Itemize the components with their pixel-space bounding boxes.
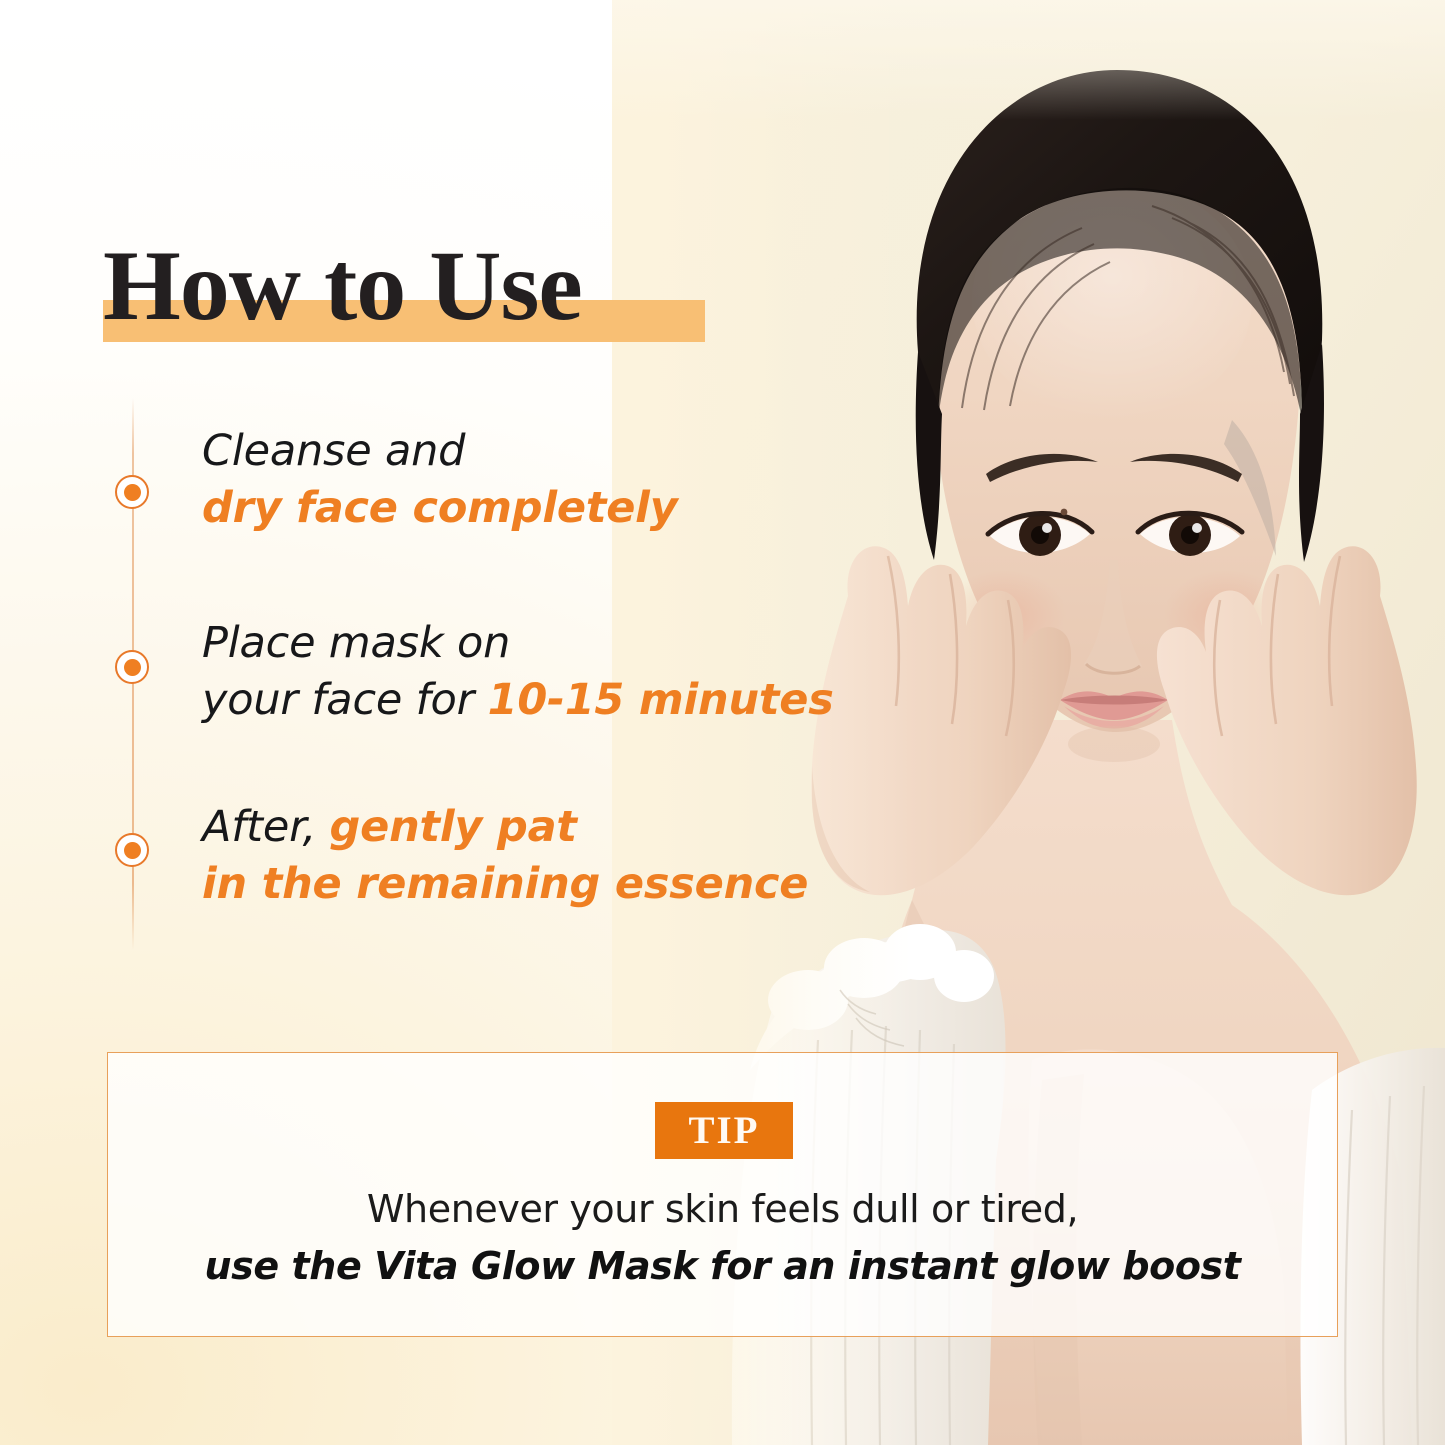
step-3-line-1: After, gently pat xyxy=(202,800,808,855)
step-1-text-accent: dry face completely xyxy=(202,483,678,533)
page-title-text: How to Use xyxy=(103,236,582,336)
step-bullet-2 xyxy=(115,650,149,684)
tip-line-1: Whenever your skin feels dull or tired, xyxy=(107,1185,1338,1234)
step-1-line-2: dry face completely xyxy=(202,481,678,536)
how-to-use-graphic: How to Use Cleanse and dry face complete… xyxy=(0,0,1445,1445)
step-3-text-accent-2: in the remaining essence xyxy=(202,859,808,909)
tip-badge: TIP xyxy=(655,1102,793,1159)
tip-badge-label: TIP xyxy=(688,1111,759,1150)
step-3-line-2: in the remaining essence xyxy=(202,857,808,912)
tip-line-2: use the Vita Glow Mask for an instant gl… xyxy=(107,1242,1338,1291)
tip-text: Whenever your skin feels dull or tired, … xyxy=(107,1185,1338,1292)
step-1-line-1: Cleanse and xyxy=(202,424,678,479)
step-2: Place mask on your face for 10-15 minute… xyxy=(202,616,834,728)
step-2-text-accent: 10-15 minutes xyxy=(488,675,834,725)
step-bullet-3 xyxy=(115,833,149,867)
step-bullet-1 xyxy=(115,475,149,509)
page-title: How to Use xyxy=(103,236,582,336)
step-3-text-plain: After, xyxy=(202,802,330,852)
step-2-line-1: Place mask on xyxy=(202,616,834,671)
step-1-text-plain: Cleanse and xyxy=(202,426,465,476)
step-2-text-plain-2: your face for xyxy=(202,675,488,725)
step-2-text-plain: Place mask on xyxy=(202,618,510,668)
step-1: Cleanse and dry face completely xyxy=(202,424,678,536)
step-3: After, gently pat in the remaining essen… xyxy=(202,800,808,912)
step-2-line-2: your face for 10-15 minutes xyxy=(202,673,834,728)
step-3-text-accent-1: gently pat xyxy=(330,802,577,852)
